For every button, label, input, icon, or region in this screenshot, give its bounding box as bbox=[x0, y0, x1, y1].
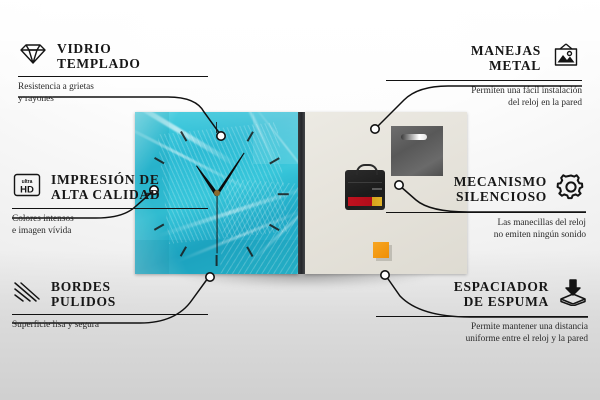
mechanism-red-label bbox=[348, 197, 382, 206]
feature-bordes-pulidos: BORDES PULIDOS Superficie lisa y segura bbox=[12, 280, 208, 332]
feature-title: IMPRESIÓN DE ALTA CALIDAD bbox=[51, 173, 160, 202]
svg-text:HD: HD bbox=[20, 185, 34, 196]
feature-mecanismo-silencioso: MECANISMO SILENCIOSO Las manecillas del … bbox=[386, 172, 586, 242]
feature-title: ESPACIADOR DE ESPUMA bbox=[454, 280, 549, 309]
feature-impresion-alta-calidad: ultra HD IMPRESIÓN DE ALTA CALIDAD Color… bbox=[12, 172, 208, 238]
feature-description: Permite mantener una distancia uniforme … bbox=[376, 322, 588, 345]
glass-side-edge bbox=[298, 112, 305, 274]
feature-title: MANEJAS METAL bbox=[471, 44, 541, 73]
feature-title: BORDES PULIDOS bbox=[51, 280, 116, 309]
ultra-hd-icon: ultra HD bbox=[12, 172, 42, 203]
clock-hour-mark bbox=[216, 122, 218, 133]
feature-divider bbox=[12, 208, 208, 209]
metal-hanger-plate bbox=[391, 126, 443, 176]
clock-hour-mark bbox=[277, 193, 288, 195]
clock-second-hand bbox=[216, 194, 217, 254]
clock-center-cap bbox=[214, 190, 220, 196]
diamond-icon bbox=[18, 42, 48, 71]
feature-manejas-metal: MANEJAS METAL Permiten una fácil instala… bbox=[386, 42, 582, 110]
feature-espaciador-de-espuma: ESPACIADOR DE ESPUMA Permite mantener un… bbox=[376, 278, 588, 346]
feature-title: VIDRIO TEMPLADO bbox=[57, 42, 141, 71]
feature-description: Resistencia a grietas y rayones bbox=[18, 82, 208, 105]
clock-hour-mark bbox=[216, 255, 218, 266]
feature-vidrio-templado: VIDRIO TEMPLADO Resistencia a grietas y … bbox=[18, 42, 208, 106]
feature-divider bbox=[18, 76, 208, 77]
diagonal-lines-icon bbox=[12, 280, 42, 309]
feature-description: Permiten una fácil instalación del reloj… bbox=[386, 86, 582, 109]
feature-divider bbox=[376, 316, 588, 317]
quartz-mechanism-box bbox=[345, 170, 385, 210]
foam-spacer-pad bbox=[373, 242, 389, 258]
hanging-picture-icon bbox=[550, 42, 582, 75]
feature-description: Superficie lisa y segura bbox=[12, 320, 208, 332]
mechanism-hanging-loop bbox=[356, 164, 378, 175]
infographic-canvas: VIDRIO TEMPLADO Resistencia a grietas y … bbox=[0, 0, 600, 400]
feature-description: Colores intensos e imagen vívida bbox=[12, 214, 208, 237]
feature-description: Las manecillas del reloj no emiten ningú… bbox=[386, 218, 586, 241]
feature-divider bbox=[12, 314, 208, 315]
feature-divider bbox=[386, 212, 586, 213]
feature-title: MECANISMO SILENCIOSO bbox=[454, 175, 547, 204]
mechanism-seam bbox=[348, 182, 382, 183]
feature-divider bbox=[386, 80, 582, 81]
gear-icon bbox=[556, 172, 586, 207]
arrow-onto-pad-icon bbox=[558, 278, 588, 311]
mechanism-marking bbox=[372, 188, 382, 190]
hanger-slot bbox=[401, 134, 427, 140]
